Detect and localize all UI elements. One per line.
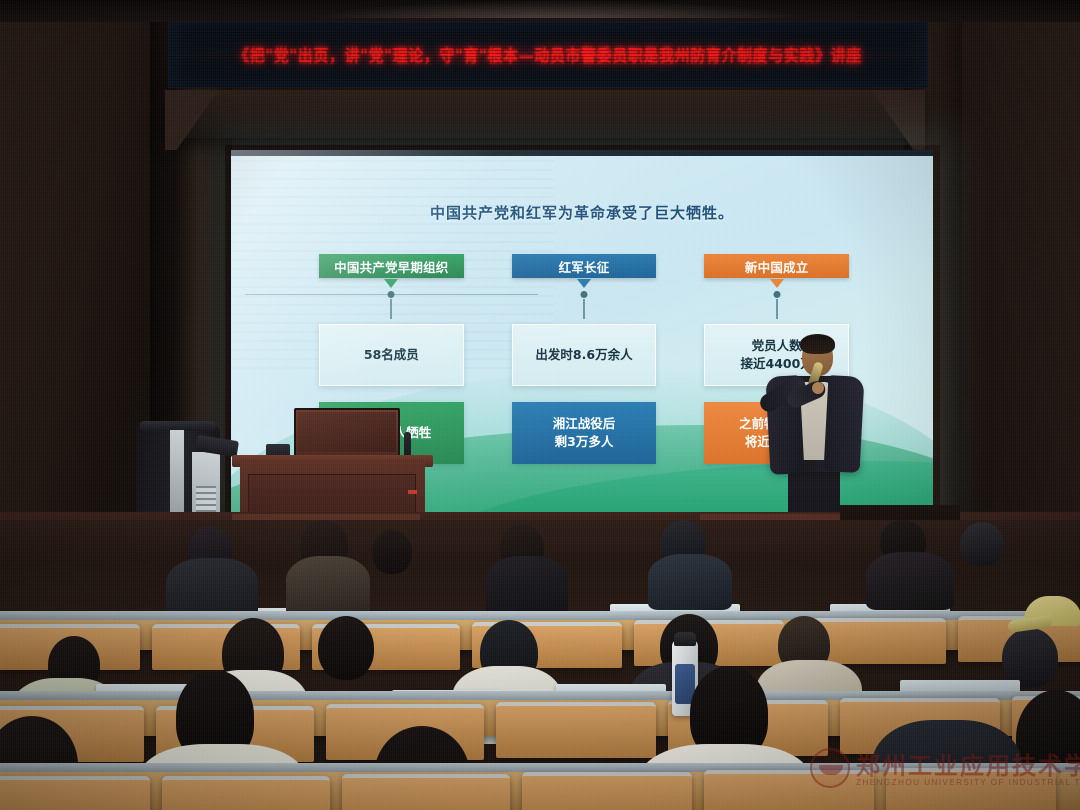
audience-head xyxy=(318,616,374,680)
audience-head xyxy=(960,522,1004,566)
audience-body xyxy=(486,556,568,616)
led-banner: 《把"党"出页，讲"党"理论，守"育"根本—动员市警委员职是我州防育介制度与实践… xyxy=(168,22,928,88)
stage-soffit xyxy=(165,90,925,138)
seat xyxy=(342,774,510,810)
soffit-bevel-right xyxy=(835,90,925,150)
watermark: 郑州工业应用技术学院 ZHENGZHOU UNIVERSITY OF INDUS… xyxy=(810,746,1078,802)
ceiling-glow xyxy=(300,0,820,18)
audience-head xyxy=(372,530,412,574)
bottle-cap xyxy=(674,632,696,646)
audience-body xyxy=(866,552,954,610)
lecture-hall-photo: 《把"党"出页，讲"党"理论，守"育"根本—动员市警委员职是我州防育介制度与实践… xyxy=(0,0,1080,810)
seat xyxy=(162,776,330,810)
university-logo-icon xyxy=(810,748,850,788)
podium-monitor-screen xyxy=(298,412,396,452)
led-glow xyxy=(169,42,927,68)
presenter xyxy=(762,332,870,527)
watermark-english: ZHENGZHOU UNIVERSITY OF INDUSTRIAL TECHN… xyxy=(856,778,1080,787)
seat xyxy=(0,776,150,810)
soffit-bevel-left xyxy=(165,90,255,150)
podium-indicator xyxy=(408,490,417,494)
seat xyxy=(522,772,692,810)
audience-body xyxy=(648,554,732,610)
seat xyxy=(496,702,656,758)
audience-head xyxy=(1002,628,1058,688)
presenter-hand xyxy=(812,382,824,394)
presenter-coat-right xyxy=(824,375,865,473)
audience-body xyxy=(286,556,370,618)
watermark-chinese: 郑州工业应用技术学院 xyxy=(856,746,1080,781)
glasses-icon xyxy=(803,350,832,356)
